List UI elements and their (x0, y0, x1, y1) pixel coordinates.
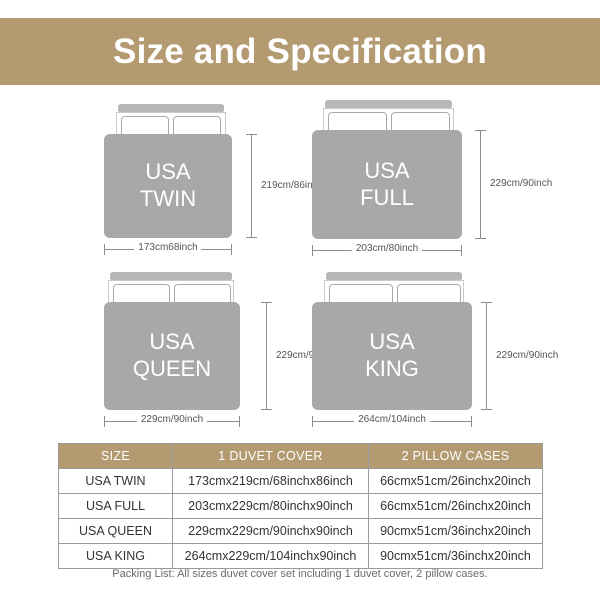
width-dimension-line: 264cm/104inch (312, 416, 472, 427)
cell-duvet: 264cmx229cm/104inchx90inch (173, 544, 369, 569)
table-row: USA KING 264cmx229cm/104inchx90inch 90cm… (59, 544, 543, 569)
packing-list-note: Packing List: All sizes duvet cover set … (0, 568, 600, 580)
width-dimension-line: 173cm68inch (104, 244, 232, 255)
dim-cap-right (471, 416, 472, 427)
duvet-body: USA TWIN (104, 134, 232, 238)
height-dimension-label: 229cm/90inch (490, 178, 552, 189)
cell-size: USA QUEEN (59, 519, 173, 544)
table-header-pillow: 2 PILLOW CASES (369, 444, 543, 469)
page-title: Size and Specification (113, 34, 487, 69)
cell-duvet: 173cmx219cm/68inchx86inch (173, 469, 369, 494)
table-header-size: SIZE (59, 444, 173, 469)
bed-diagram-grid: USA TWIN 219cm/86inch 173cm68inch USA FU… (0, 88, 600, 436)
cell-pillow: 66cmx51cm/26inchx20inch (369, 494, 543, 519)
dim-cap-bottom (246, 237, 257, 238)
width-dimension-line: 229cm/90inch (104, 416, 240, 427)
cell-pillow: 66cmx51cm/26inchx20inch (369, 469, 543, 494)
dim-cap-bottom (475, 238, 486, 239)
bed-label-line1: USA (364, 158, 409, 185)
dim-cap-right (239, 416, 240, 427)
table-header-duvet: 1 DUVET COVER (173, 444, 369, 469)
table-row: USA TWIN 173cmx219cm/68inchx86inch 66cmx… (59, 469, 543, 494)
dim-stem (486, 302, 487, 410)
height-dimension-label: 229cm/90inch (496, 350, 558, 361)
width-dimension-label: 264cm/104inch (354, 414, 430, 425)
title-band: Size and Specification (0, 18, 600, 85)
height-dimension-line (475, 130, 486, 239)
height-dimension-line (481, 302, 492, 410)
dim-cap-bottom (481, 409, 492, 410)
bed-label-line1: USA (149, 329, 194, 356)
bed-label-line1: USA (145, 159, 190, 186)
cell-pillow: 90cmx51cm/36inchx20inch (369, 544, 543, 569)
width-dimension-line: 203cm/80inch (312, 245, 462, 256)
table-header-row: SIZE 1 DUVET COVER 2 PILLOW CASES (59, 444, 543, 469)
cell-size: USA FULL (59, 494, 173, 519)
duvet-body: USA FULL (312, 130, 462, 239)
cell-pillow: 90cmx51cm/36inchx20inch (369, 519, 543, 544)
dim-cap-bottom (261, 409, 272, 410)
duvet-body: USA QUEEN (104, 302, 240, 410)
cell-duvet: 229cmx229cm/90inchx90inch (173, 519, 369, 544)
cell-size: USA TWIN (59, 469, 173, 494)
cell-duvet: 203cmx229cm/80inchx90inch (173, 494, 369, 519)
duvet-body: USA KING (312, 302, 472, 410)
table-row: USA QUEEN 229cmx229cm/90inchx90inch 90cm… (59, 519, 543, 544)
width-dimension-label: 173cm68inch (134, 242, 201, 253)
width-dimension-label: 229cm/90inch (137, 414, 207, 425)
cell-size: USA KING (59, 544, 173, 569)
bed-label-line2: KING (365, 356, 419, 383)
bed-label-line1: USA (369, 329, 414, 356)
specification-table: SIZE 1 DUVET COVER 2 PILLOW CASES USA TW… (58, 443, 543, 569)
dim-cap-right (461, 245, 462, 256)
height-dimension-line (246, 134, 257, 238)
table-row: USA FULL 203cmx229cm/80inchx90inch 66cmx… (59, 494, 543, 519)
width-dimension-label: 203cm/80inch (352, 243, 422, 254)
dim-stem (251, 134, 252, 238)
dim-stem (480, 130, 481, 239)
bed-label-line2: FULL (360, 185, 414, 212)
bed-label-line2: TWIN (140, 186, 196, 213)
dim-stem (266, 302, 267, 410)
bed-label-line2: QUEEN (133, 356, 211, 383)
dim-cap-right (231, 244, 232, 255)
height-dimension-line (261, 302, 272, 410)
